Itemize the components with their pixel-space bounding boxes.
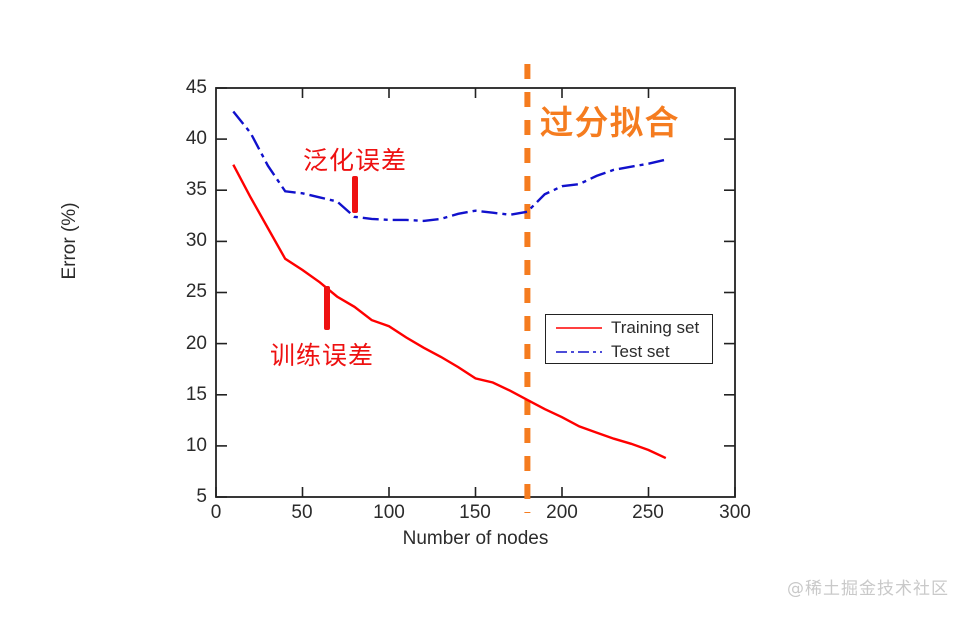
y-tick-marks	[216, 88, 735, 497]
x-tick-label-250: 250	[632, 502, 664, 524]
watermark: @稀土掘金技术社区	[787, 574, 949, 599]
annotation-training-error: 训练误差	[270, 336, 374, 372]
y-tick-label-20: 20	[165, 333, 207, 355]
plot-canvas	[0, 0, 967, 617]
y-tick-label-30: 30	[165, 230, 207, 252]
chart-figure: 5 10 15 20 25 30 35 40 45 0 50 100 150 2…	[0, 0, 967, 617]
legend-item-training-set: Training set	[546, 315, 712, 340]
y-tick-label-40: 40	[165, 128, 207, 150]
x-tick-label-0: 0	[211, 502, 222, 524]
y-tick-label-45: 45	[165, 77, 207, 99]
x-tick-label-150: 150	[459, 502, 491, 524]
x-tick-label-50: 50	[291, 502, 312, 524]
legend-item-test-set: Test set	[546, 339, 712, 364]
annotation-overfitting: 过分拟合	[540, 96, 680, 144]
x-tick-marks	[216, 88, 735, 497]
legend-swatch-test-set	[555, 346, 603, 358]
x-tick-label-100: 100	[373, 502, 405, 524]
pointer-generalization-error	[352, 176, 358, 213]
annotation-generalization-error: 泛化误差	[303, 141, 407, 177]
x-tick-label-200: 200	[546, 502, 578, 524]
y-tick-label-35: 35	[165, 179, 207, 201]
chart-legend: Training set Test set	[545, 314, 713, 364]
y-tick-label-25: 25	[165, 281, 207, 303]
pointer-training-error	[324, 286, 330, 330]
legend-label-test-set: Test set	[611, 342, 670, 362]
y-axis-title: Error (%)	[59, 141, 81, 341]
plot-frame	[216, 88, 735, 497]
legend-swatch-training-set	[555, 322, 603, 334]
legend-label-training-set: Training set	[611, 318, 699, 338]
series-training-set	[233, 165, 666, 458]
x-tick-label-300: 300	[719, 502, 751, 524]
y-tick-label-5: 5	[165, 486, 207, 508]
y-tick-label-15: 15	[165, 384, 207, 406]
y-tick-label-10: 10	[165, 435, 207, 457]
x-axis-title: Number of nodes	[216, 528, 735, 550]
